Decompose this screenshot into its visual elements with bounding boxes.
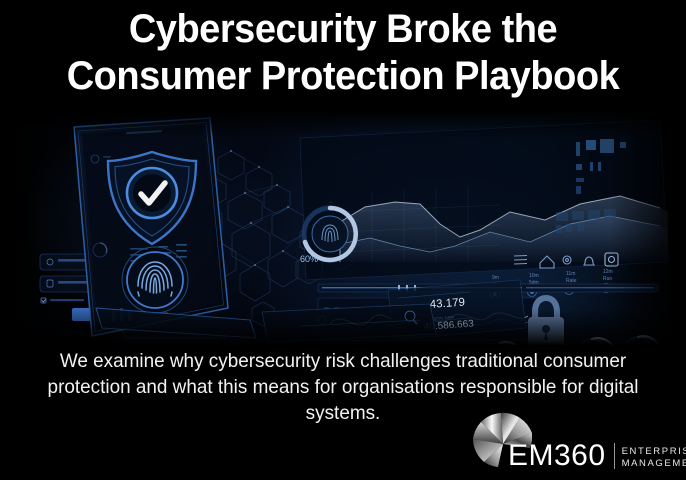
title-line-1: Cybersecurity Broke the (17, 6, 669, 53)
logo-tagline-line-1: ENTERPRISE (622, 446, 686, 458)
hero-image: 9m5/h 10m5dm 11mRate 12mRun (0, 112, 686, 345)
svg-text:10m: 10m (529, 273, 539, 279)
logo-tagline: ENTERPRISE MANAGEMENT 360 (622, 446, 686, 471)
logo-divider (614, 443, 615, 469)
article-card: Cybersecurity Broke the Consumer Protect… (0, 0, 686, 480)
svg-text:11m: 11m (566, 271, 575, 277)
em360-logo[interactable]: EM360 ENTERPRISE MANAGEMENT 360 (470, 409, 675, 477)
gauge-left-value: 60% (300, 254, 318, 264)
page-title: Cybersecurity Broke the Consumer Protect… (0, 6, 686, 100)
fingerprint-icon (122, 247, 188, 313)
title-line-2: Consumer Protection Playbook (17, 53, 669, 100)
svg-text:Rate: Rate (566, 278, 577, 284)
svg-text:9m: 9m (492, 275, 499, 281)
logo-wordmark: EM360 (508, 441, 606, 471)
logo-tagline-line-2: MANAGEMENT 360 (622, 458, 686, 470)
